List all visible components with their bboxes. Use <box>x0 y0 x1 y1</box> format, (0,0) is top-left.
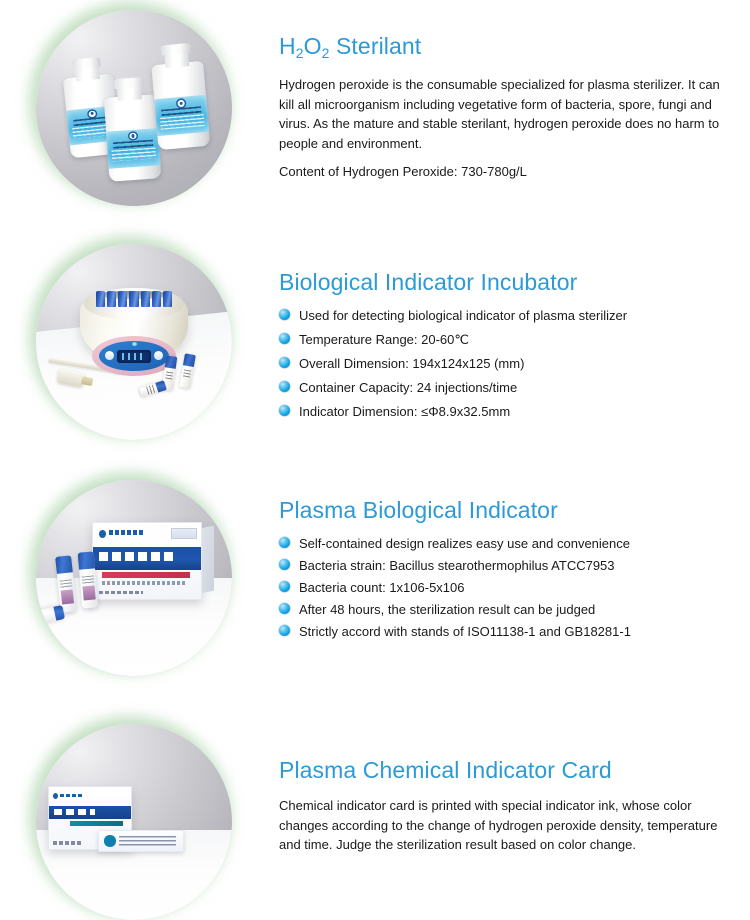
title-formula-o: O <box>304 33 322 59</box>
list-item: Temperature Range: 20-60℃ <box>279 332 739 356</box>
product-disc-h2o2 <box>36 10 232 206</box>
bullet-dot-icon <box>279 357 290 368</box>
product-content-h2o2-sterilant: H2O2 Sterilant Hydrogen peroxide is the … <box>279 32 739 182</box>
bullet-dot-icon <box>279 333 290 344</box>
product-disc-incubator <box>36 244 232 440</box>
product-title-h2o2-sterilant: H2O2 Sterilant <box>279 32 739 63</box>
product-disc-plasma-bi <box>36 480 232 676</box>
product-spec-content: Content of Hydrogen Peroxide: 730-780g/L <box>279 162 731 182</box>
strip-badge-icon <box>104 835 116 846</box>
vial <box>129 291 138 307</box>
bottle-label <box>154 95 209 137</box>
bullet-dot-icon <box>279 381 290 392</box>
vial <box>96 291 105 307</box>
vial <box>141 291 150 307</box>
list-item-label: Used for detecting biological indicator … <box>299 308 627 323</box>
product-title-incubator: Biological Indicator Incubator <box>279 268 739 296</box>
decrease-button[interactable] <box>105 351 114 360</box>
bullet-dot-icon <box>279 559 290 570</box>
bottle-label <box>106 128 160 168</box>
brand-logo-icon <box>129 132 136 139</box>
list-item-label: Container Capacity: 24 injections/time <box>299 380 517 395</box>
list-item-label: Temperature Range: 20-60℃ <box>299 332 469 347</box>
label-text-lines <box>161 106 201 117</box>
bullet-dot-icon <box>279 405 290 416</box>
box-fineprint <box>102 581 186 585</box>
vial <box>118 291 127 307</box>
list-item-label: Overall Dimension: 194x124x125 (mm) <box>299 356 524 371</box>
list-item: Self-contained design realizes easy use … <box>279 536 739 558</box>
product-section-plasma-biological-indicator: Plasma Biological Indicator Self-contain… <box>0 462 750 692</box>
box-manufacturer-text <box>53 841 81 845</box>
product-title-plasma-bi: Plasma Biological Indicator <box>279 496 739 524</box>
increase-button[interactable] <box>154 351 163 360</box>
product-description: Chemical indicator card is printed with … <box>279 796 737 855</box>
vial-media <box>82 585 95 601</box>
brand-logo-icon <box>88 110 95 117</box>
product-disc-chemical-card <box>36 724 232 920</box>
product-section-biological-indicator-incubator: Biological Indicator Incubator Used for … <box>0 230 750 462</box>
brand-logo-icon <box>99 529 142 539</box>
title-formula-sub1: 2 <box>296 45 304 61</box>
title-formula-h: H <box>279 33 296 59</box>
bullet-dot-icon <box>279 581 290 592</box>
logo-mark <box>53 793 58 799</box>
vial <box>107 291 116 307</box>
vial-label <box>81 575 95 585</box>
list-item: Indicator Dimension: ≤Φ8.9x32.5mm <box>279 404 739 428</box>
bi-product-box <box>92 522 202 600</box>
product-section-h2o2-sterilant: H2O2 Sterilant Hydrogen peroxide is the … <box>0 0 750 230</box>
box-subtitle-band <box>102 572 191 579</box>
spec-list-plasma-bi: Self-contained design realizes easy use … <box>279 536 739 646</box>
brand-logo-icon <box>177 99 184 106</box>
spec-list-incubator: Used for detecting biological indicator … <box>279 308 739 428</box>
product-title-chemical-card: Plasma Chemical Indicator Card <box>279 756 739 784</box>
title-name-sterilant: Sterilant <box>330 33 422 59</box>
strip-text-lines <box>119 836 176 846</box>
box-title-text <box>99 552 172 561</box>
product-content-incubator: Biological Indicator Incubator Used for … <box>279 268 739 428</box>
list-item-label: Strictly accord with stands of ISO11138-… <box>299 624 631 639</box>
vial-media <box>61 589 75 605</box>
bullet-dot-icon <box>279 309 290 320</box>
bullet-dot-icon <box>279 603 290 614</box>
title-formula-sub2: 2 <box>322 45 330 61</box>
box-side-panel <box>200 526 214 594</box>
list-item-label: After 48 hours, the sterilization result… <box>299 602 595 617</box>
product-image-h2o2-sterilant <box>0 0 268 230</box>
box-manufacturer-text <box>99 591 142 595</box>
list-item: Bacteria strain: Bacillus stearothermoph… <box>279 558 739 580</box>
box-spec-tag <box>171 528 197 539</box>
bottle-body <box>104 95 162 182</box>
label-text-lines <box>113 139 153 149</box>
bottle-right <box>150 42 211 150</box>
bullet-dot-icon <box>279 537 290 548</box>
box-subtitle-band <box>70 821 123 826</box>
list-item-label: Bacteria count: 1x106-5x106 <box>299 580 465 595</box>
product-image-plasma-bi <box>0 462 268 692</box>
logo-mark <box>99 530 106 538</box>
vial <box>163 291 172 307</box>
box-title-band <box>93 547 201 570</box>
product-section-plasma-chemical-indicator-card: Plasma Chemical Indicator Card Chemical … <box>0 692 750 892</box>
box-title-band <box>49 806 131 820</box>
list-item-label: Bacteria strain: Bacillus stearothermoph… <box>299 558 615 573</box>
product-image-chemical-card <box>0 692 268 892</box>
vial-label <box>59 579 73 589</box>
product-content-plasma-bi: Plasma Biological Indicator Self-contain… <box>279 496 739 646</box>
logo-wordmark <box>109 530 143 534</box>
vial <box>152 291 161 307</box>
product-brochure-page: H2O2 Sterilant Hydrogen peroxide is the … <box>0 0 750 892</box>
list-item-label: Self-contained design realizes easy use … <box>299 536 630 551</box>
panel-ring <box>99 341 170 371</box>
list-item: Bacteria count: 1x106-5x106 <box>279 580 739 602</box>
bullet-dot-icon <box>279 625 290 636</box>
box-title-text <box>54 809 95 815</box>
list-item: Strictly accord with stands of ISO11138-… <box>279 624 739 646</box>
list-item: Overall Dimension: 194x124x125 (mm) <box>279 356 739 380</box>
vial-row <box>96 291 172 314</box>
brand-logo-icon <box>53 793 83 800</box>
list-item: Used for detecting biological indicator … <box>279 308 739 332</box>
product-image-incubator <box>0 230 268 462</box>
power-led-icon <box>132 342 137 346</box>
list-item: After 48 hours, the sterilization result… <box>279 602 739 624</box>
vial-cap <box>55 555 73 573</box>
list-item: Container Capacity: 24 injections/time <box>279 380 739 404</box>
product-content-chemical-card: Plasma Chemical Indicator Card Chemical … <box>279 756 739 855</box>
product-description: Hydrogen peroxide is the consumable spec… <box>279 75 731 153</box>
logo-wordmark <box>60 794 83 797</box>
bottle-body <box>151 61 210 150</box>
temperature-display <box>117 350 151 363</box>
list-item-label: Indicator Dimension: ≤Φ8.9x32.5mm <box>299 404 510 419</box>
chemical-indicator-strip <box>98 830 184 852</box>
vial-cap <box>78 551 95 569</box>
box-front-face <box>92 522 202 600</box>
